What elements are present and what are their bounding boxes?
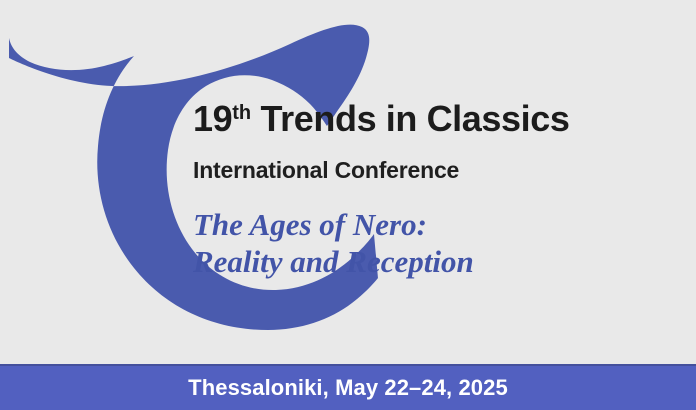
ordinal-number: 19 (193, 98, 232, 139)
conference-poster: 19th Trends in Classics International Co… (0, 0, 696, 410)
series-name: Trends in Classics (261, 98, 570, 139)
conference-theme-line-1: The Ages of Nero: (193, 206, 663, 243)
location-date-banner: Thessaloniki, May 22–24, 2025 (0, 364, 696, 410)
ordinal-suffix: th (232, 102, 251, 124)
conference-theme-line-2: Reality and Reception (193, 243, 663, 280)
conference-title: 19th Trends in Classics (193, 99, 663, 145)
conference-subtitle: International Conference (193, 157, 663, 184)
poster-text-block: 19th Trends in Classics International Co… (193, 99, 663, 280)
location-date-text: Thessaloniki, May 22–24, 2025 (0, 375, 696, 401)
